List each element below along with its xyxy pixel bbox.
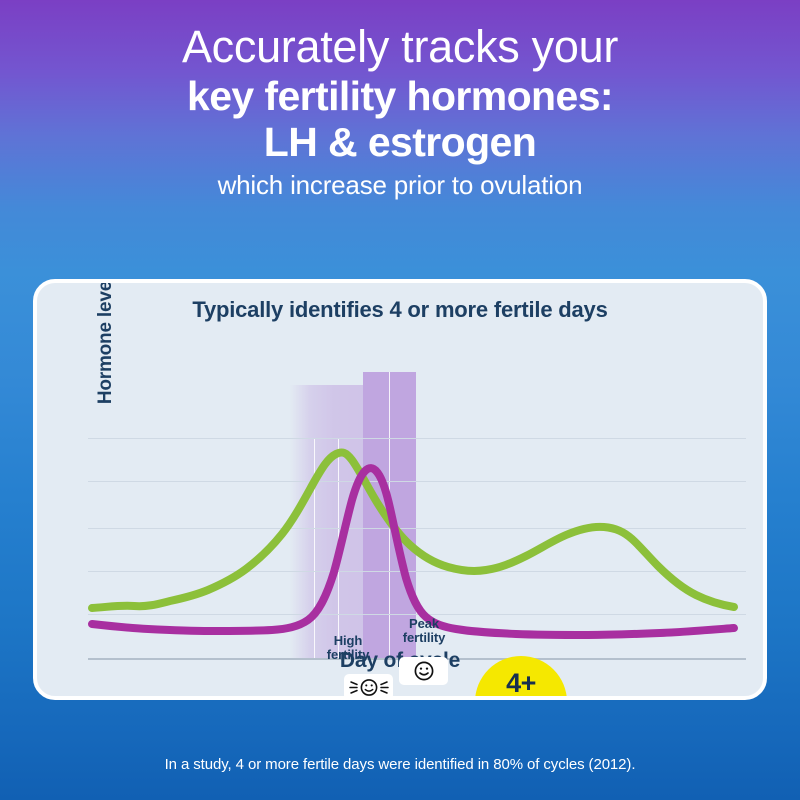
high-fertility-label-line2: fertility (317, 648, 379, 662)
y-axis-label: Hormone level (95, 279, 117, 435)
solid-smiley-icon (412, 659, 436, 683)
header: Accurately tracks your key fertility hor… (0, 0, 800, 198)
peak-fertility-icon-chip (399, 657, 448, 685)
flashing-smiley-icon (348, 677, 390, 698)
estrogen-curve (92, 452, 734, 608)
headline-line-1: Accurately tracks your (0, 24, 800, 76)
peak-fertility-label-line1: Peak (389, 617, 459, 631)
headline-line-3: LH & estrogen (0, 122, 800, 172)
high-fertility-icon-chip (344, 674, 393, 700)
badge-label-line1: fertile (498, 699, 544, 700)
peak-fertility-label: Peak fertility (389, 617, 459, 645)
headline-line-2: key fertility hormones: (0, 76, 800, 122)
chart-title: Typically identifies 4 or more fertile d… (37, 297, 763, 323)
high-fertility-label: High fertility (317, 634, 379, 662)
badge-number: 4+ (506, 670, 536, 698)
footnote: In a study, 4 or more fertile days were … (0, 756, 800, 773)
peak-fertility-label-line2: fertility (389, 631, 459, 645)
high-fertility-label-line1: High (317, 634, 379, 648)
chart-card: Typically identifies 4 or more fertile d… (33, 279, 767, 700)
headline-subtitle: which increase prior to ovulation (0, 172, 800, 198)
